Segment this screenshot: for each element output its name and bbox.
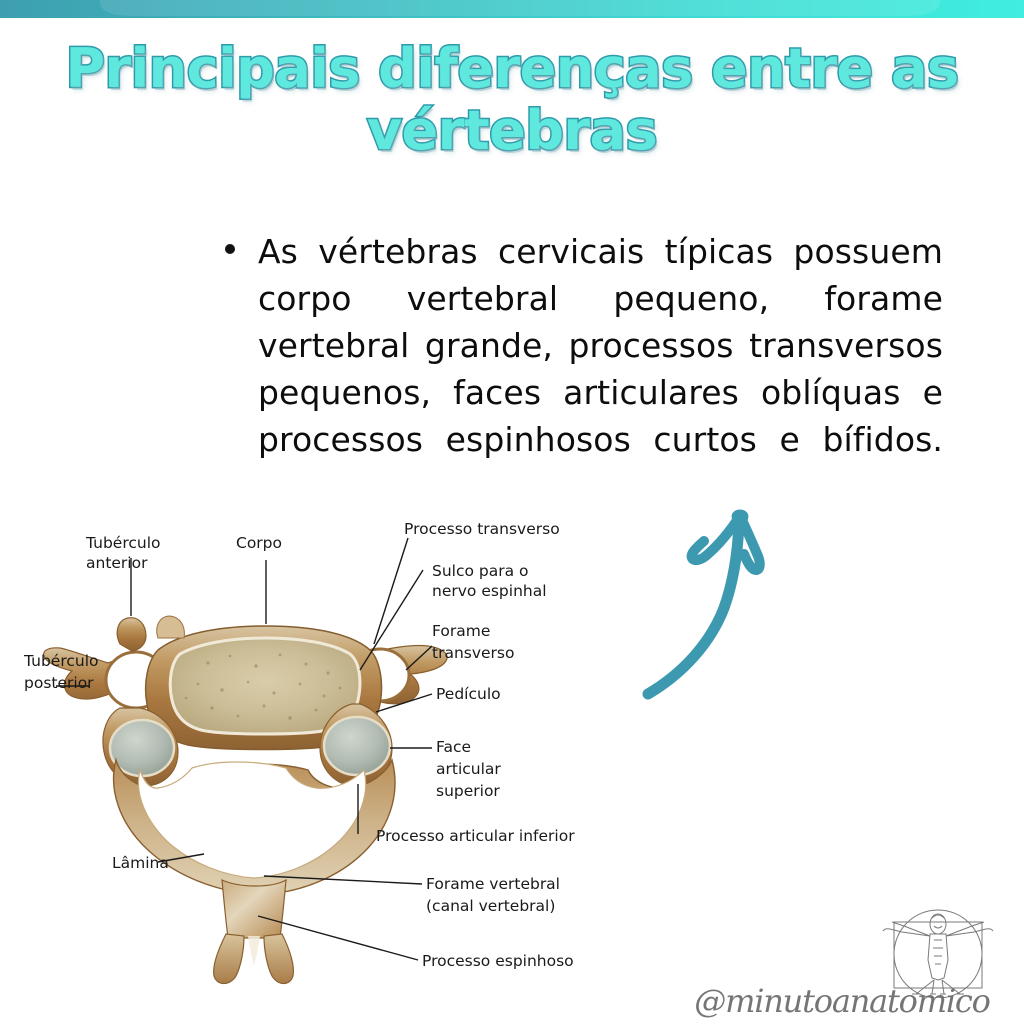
- label-face-line1: Face: [436, 738, 471, 756]
- anterior-tubercle: [117, 618, 146, 651]
- top-bar-gradient: [0, 0, 1024, 18]
- vertebra-bone-body: [44, 616, 447, 984]
- label-processo-articular-inferior: Processo articular inferior: [376, 827, 575, 845]
- body-bullet-text: As vértebras cervicais típicas possuem c…: [258, 228, 943, 510]
- vertebra-illustration: Tubérculo anterior Corpo Processo transv…: [8, 498, 618, 990]
- label-processo-transverso: Processo transverso: [404, 520, 560, 538]
- label-sulco-line2: nervo espinhal: [432, 582, 547, 600]
- cervical-vertebra-figure: Tubérculo anterior Corpo Processo transv…: [8, 498, 618, 990]
- label-forame-transverso-line2: transverso: [432, 644, 515, 662]
- spinous-process: [222, 880, 286, 938]
- label-tuberculo-anterior-line1: Tubérculo: [85, 534, 160, 552]
- superior-articular-facet-right: [324, 717, 390, 775]
- label-pediculo: Pedículo: [436, 685, 501, 703]
- watermark-handle-text: @minutoanatomico: [666, 982, 1018, 1020]
- curved-arrow-icon: [636, 498, 836, 708]
- bullet-point-marker: [225, 244, 235, 254]
- top-gradient-bar: [0, 0, 1024, 18]
- label-tuberculo-anterior-line2: anterior: [86, 554, 148, 572]
- slide-title: Principais diferenças entre as vértebras: [60, 38, 964, 162]
- label-tuberculo-posterior-line1: Tubérculo: [23, 652, 98, 670]
- label-face-line3: superior: [436, 782, 500, 800]
- spinous-process-tip-right: [264, 934, 293, 984]
- label-face-line2: articular: [436, 760, 501, 778]
- label-forame-vertebral-line1: Forame vertebral: [426, 875, 560, 893]
- label-sulco-line1: Sulco para o: [432, 562, 529, 580]
- label-forame-vertebral-line2: (canal vertebral): [426, 897, 555, 915]
- leader-processo-transverso: [374, 538, 408, 644]
- label-forame-transverso-line1: Forame: [432, 622, 490, 640]
- body-bullet-block: As vértebras cervicais típicas possuem c…: [225, 228, 943, 510]
- label-corpo: Corpo: [236, 534, 282, 552]
- brand-watermark: @minutoanatomico: [666, 902, 1018, 1020]
- spinous-process-tip-left: [214, 934, 244, 984]
- label-lamina: Lâmina: [112, 854, 169, 872]
- curved-arrow-annotation: [636, 498, 836, 708]
- label-tuberculo-posterior-line2: posterior: [24, 674, 94, 692]
- label-processo-espinhoso: Processo espinhoso: [422, 952, 574, 970]
